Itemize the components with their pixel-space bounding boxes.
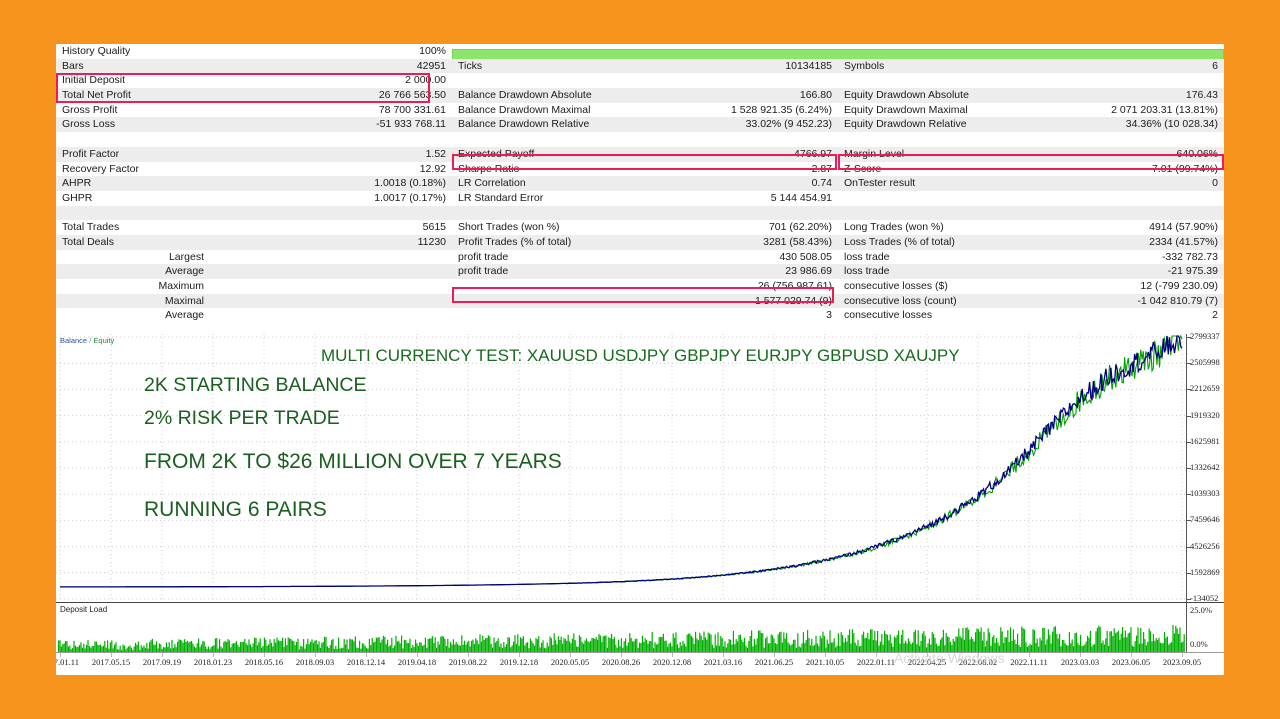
stats-row: Gross Profit78 700 331.61	[56, 103, 452, 118]
deposit-load-bar	[435, 637, 436, 653]
x-axis-tick: 2019.08.22	[449, 657, 487, 667]
deposit-load-bar	[1114, 628, 1115, 653]
deposit-load-bar	[797, 633, 798, 653]
deposit-load-bar	[699, 633, 700, 653]
deposit-load-bar	[1179, 627, 1180, 653]
stats-row-value: 5615	[423, 220, 446, 235]
deposit-load-bar	[645, 638, 646, 653]
deposit-load-y-axis: 25.0%0.0%	[1186, 602, 1224, 652]
deposit-load-bar	[695, 632, 696, 653]
deposit-load-bar	[758, 631, 759, 653]
stats-row: AHPR1.0018 (0.18%)	[56, 176, 452, 191]
deposit-load-bar	[757, 639, 758, 654]
deposit-load-bar	[1153, 634, 1154, 653]
deposit-load-bar	[673, 633, 674, 653]
y-axis-tick: 7459646	[1190, 514, 1220, 524]
deposit-load-bar	[1119, 640, 1120, 654]
deposit-load-bar	[1052, 632, 1053, 653]
legend-separator: /	[89, 336, 91, 345]
stats-column-3: Symbols6Equity Drawdown Absolute176.43Eq…	[838, 44, 1224, 334]
deposit-load-bar	[447, 639, 448, 653]
y-axis-tick-mark	[1187, 442, 1191, 443]
deposit-load-bar	[1055, 626, 1056, 653]
deposit-load-bar	[857, 640, 858, 653]
stats-row-label: Total Trades	[62, 220, 119, 235]
deposit-load-bar	[807, 630, 808, 653]
deposit-load-bar	[227, 639, 228, 653]
deposit-load-bar	[692, 638, 693, 653]
deposit-load-bar	[1069, 632, 1070, 653]
overlay-line-2: 2% RISK PER TRADE	[144, 407, 340, 430]
deposit-load-bar	[1105, 639, 1106, 654]
stats-row-label: Long Trades (won %)	[844, 220, 944, 235]
deposit-load-bar	[1044, 628, 1045, 653]
deposit-load-bar	[178, 639, 179, 653]
stats-row-label: LR Standard Error	[458, 191, 543, 206]
stats-row: profit trade23 986.69	[452, 264, 838, 279]
x-axis-tick-mark	[723, 653, 724, 657]
deposit-load-bar	[425, 638, 426, 653]
deposit-load-bar	[384, 637, 385, 653]
stats-row: Margin Level640.06%	[838, 147, 1224, 162]
x-axis-tick-mark	[621, 653, 622, 657]
deposit-load-bar	[372, 638, 373, 653]
deposit-load-bar	[377, 638, 378, 653]
deposit-load-bar	[642, 636, 643, 653]
legend-equity: Equity	[93, 336, 114, 345]
deposit-load-bar	[864, 638, 865, 653]
stats-row-value: 2	[1212, 308, 1218, 323]
deposit-load-bar	[1042, 628, 1043, 653]
deposit-load-bar	[1049, 635, 1050, 653]
y-axis-tick-mark	[1187, 416, 1191, 417]
stats-row-label: consecutive losses ($)	[844, 279, 948, 294]
x-axis-tick-mark	[366, 653, 367, 657]
deposit-load-bar	[618, 640, 619, 653]
stats-row	[452, 73, 838, 88]
deposit-load-bar	[593, 638, 594, 653]
stats-row: Largest	[56, 250, 452, 265]
deposit-load-bar	[786, 633, 787, 653]
deposit-load-bar	[332, 639, 333, 653]
stats-row-value: 42951	[417, 59, 446, 74]
x-axis-tick: 2020.08.26	[602, 657, 640, 667]
deposit-load-bar	[625, 638, 626, 653]
stats-row	[452, 44, 838, 59]
deposit-load-bar	[535, 638, 536, 653]
stats-row	[452, 132, 838, 147]
deposit-load-bar	[1095, 631, 1096, 653]
deposit-load-bar	[596, 637, 597, 653]
x-axis-tick-mark	[162, 653, 163, 657]
deposit-load-bar	[1167, 637, 1168, 654]
stats-row-label: Maximal	[56, 294, 204, 309]
deposit-load-bar	[1140, 628, 1141, 653]
deposit-load-bar	[842, 635, 843, 653]
stats-row-value: 166.80	[800, 88, 832, 103]
deposit-load-bar	[870, 629, 871, 653]
deposit-load-bar	[766, 637, 767, 654]
deposit-load-bar	[338, 638, 339, 653]
deposit-load-bar	[887, 635, 888, 653]
x-axis-tick: 2018.09.03	[296, 657, 334, 667]
stats-row-value: 10134185	[785, 59, 832, 74]
stats-row: Gross Loss-51 933 768.11	[56, 117, 452, 132]
deposit-load-bar	[255, 638, 256, 653]
chart-y-axis: 2799337250599822126591919320162598113326…	[1186, 334, 1224, 602]
stats-row: Profit Trades (% of total)3281 (58.43%)	[452, 235, 838, 250]
deposit-load-bar	[612, 639, 613, 653]
deposit-load-bar	[754, 639, 755, 653]
stats-row-value: 1 528 921.35 (6.24%)	[731, 103, 832, 118]
deposit-load-bar	[1088, 638, 1089, 653]
y-axis-tick-mark	[1187, 468, 1191, 469]
stats-row-value: -51 933 768.11	[376, 117, 446, 132]
stats-row-label: Largest	[56, 250, 204, 265]
stats-row-value: 78 700 331.61	[379, 103, 446, 118]
stats-row: Balance Drawdown Maximal1 528 921.35 (6.…	[452, 103, 838, 118]
deposit-load-bar	[783, 632, 784, 653]
deposit-load-bar	[517, 634, 518, 653]
stats-row-value: 1.52	[426, 147, 446, 162]
deposit-load-bar	[307, 639, 308, 653]
deposit-load-bar	[1121, 634, 1122, 653]
deposit-load-bar	[1143, 632, 1144, 653]
stats-row-value: 34.36% (10 028.34)	[1126, 117, 1218, 132]
deposit-load-bar	[1007, 630, 1008, 653]
x-axis-tick: 2023.06.05	[1112, 657, 1150, 667]
stats-row: LR Standard Error5 144 454.91	[452, 191, 838, 206]
deposit-load-bar	[523, 636, 524, 653]
deposit-load-bar	[485, 638, 486, 653]
deposit-load-bar	[689, 634, 690, 653]
x-axis-tick-mark	[1182, 653, 1183, 657]
deposit-load-bar	[521, 639, 522, 654]
stats-column-1: History Quality100%Bars42951Initial Depo…	[56, 44, 452, 334]
stats-row-label: Maximum	[56, 279, 204, 294]
deposit-load-bar	[1128, 633, 1129, 653]
deposit-load-bar	[848, 635, 849, 653]
deposit-load-bar	[409, 639, 410, 653]
stats-row-label: Profit Factor	[62, 147, 119, 162]
y-axis-tick-mark	[1187, 494, 1191, 495]
deposit-load-bar	[688, 634, 689, 653]
deposit-load-bar	[1129, 633, 1130, 654]
deposit-load-bar	[440, 637, 441, 653]
deposit-load-bar	[1122, 627, 1123, 653]
deposit-load-bar	[834, 638, 835, 653]
deposit-load-bar	[1023, 628, 1024, 653]
x-axis-tick: 2023.03.03	[1061, 657, 1099, 667]
y-axis-tick: 1919320	[1190, 410, 1220, 420]
deposit-load-bar	[1098, 626, 1099, 653]
stats-row: Z-Score-7.01 (99.74%)	[838, 162, 1224, 177]
deposit-load-bar	[297, 639, 298, 653]
deposit-load-bar	[461, 635, 462, 653]
y-axis-tick: 1332642	[1190, 462, 1220, 472]
deposit-load-bar	[1125, 631, 1126, 654]
deposit-load-bar	[600, 636, 601, 654]
stats-row-value: 5 144 454.91	[771, 191, 832, 206]
stats-row-value: 33.02% (9 452.23)	[746, 117, 832, 132]
deposit-load-bar	[687, 635, 688, 653]
deposit-load-bar	[803, 632, 804, 653]
deposit-load-bar	[722, 638, 723, 653]
deposit-load-bar	[1175, 626, 1176, 653]
x-axis-tick-mark	[60, 653, 61, 657]
deposit-load-bar	[489, 636, 490, 653]
stats-row-label: Equity Drawdown Maximal	[844, 103, 968, 118]
deposit-load-bar	[884, 631, 885, 653]
deposit-load-bar	[1034, 630, 1035, 653]
deposit-load-bar	[1118, 631, 1119, 653]
stats-row	[838, 191, 1224, 206]
stats-row-value: 4914 (57.90%)	[1149, 220, 1218, 235]
stats-row-label: GHPR	[62, 191, 92, 206]
stats-row-label: Recovery Factor	[62, 162, 139, 177]
stats-row-label: Short Trades (won %)	[458, 220, 560, 235]
deposit-load-bar	[1150, 631, 1151, 653]
x-axis-tick-mark	[417, 653, 418, 657]
deposit-load-bar	[1158, 638, 1159, 653]
deposit-load-bar	[1177, 629, 1178, 654]
equity-chart: EuForex Balance / Equity MULTI CURRENCY …	[56, 334, 1224, 675]
deposit-load-bar	[1024, 629, 1025, 653]
deposit-load-bar	[736, 639, 737, 653]
x-axis-tick-mark	[519, 653, 520, 657]
deposit-load-bar	[573, 634, 574, 654]
deposit-load-bar	[352, 640, 353, 654]
y-axis-tick-mark	[1187, 337, 1191, 338]
deposit-load-bar	[401, 636, 402, 654]
stats-row-value: 640.06%	[1177, 147, 1218, 162]
stats-row: Recovery Factor12.92	[56, 162, 452, 177]
deposit-load-bar	[811, 639, 812, 653]
stats-row-label: Symbols	[844, 59, 884, 74]
stats-row-value: 2334 (41.57%)	[1149, 235, 1218, 250]
deposit-load-bar	[1137, 627, 1138, 653]
stats-row: Equity Drawdown Absolute176.43	[838, 88, 1224, 103]
deposit-load-bar	[866, 638, 867, 653]
deposit-load-bar	[549, 637, 550, 654]
deposit-load-bar	[429, 638, 430, 653]
deposit-load-bar	[1178, 634, 1179, 653]
x-axis-tick-mark	[213, 653, 214, 657]
y-axis-tick-mark	[1187, 599, 1191, 600]
deposit-load-bar	[507, 637, 508, 653]
statistics-table: History Quality100%Bars42951Initial Depo…	[56, 44, 1224, 334]
stats-row: Average	[56, 264, 452, 279]
stats-row	[56, 206, 452, 221]
deposit-load-bar	[1107, 631, 1108, 653]
stats-row: loss trade-332 782.73	[838, 250, 1224, 265]
deposit-load-bar	[324, 637, 325, 653]
stats-row-label: Expected Payoff	[458, 147, 534, 162]
stats-row-label: loss trade	[844, 250, 890, 265]
stats-row: Short Trades (won %)701 (62.20%)	[452, 220, 838, 235]
deposit-load-bar	[862, 635, 863, 654]
stats-row-value: 12 (-799 230.09)	[1140, 279, 1218, 294]
stats-row: Equity Drawdown Maximal2 071 203.31 (13.…	[838, 103, 1224, 118]
deposit-load-bar	[215, 639, 216, 654]
stats-row: Loss Trades (% of total)2334 (41.57%)	[838, 235, 1224, 250]
deposit-load-bar	[852, 629, 853, 653]
deposit-load-bar	[597, 640, 598, 653]
stats-row-value: 100%	[419, 44, 446, 59]
stats-row-label: Balance Drawdown Absolute	[458, 88, 592, 103]
stats-row-label: LR Correlation	[458, 176, 526, 191]
stats-row-value: 3281 (58.43%)	[763, 235, 832, 250]
deposit-load-bar	[701, 636, 702, 653]
x-axis-tick: 2021.10.05	[806, 657, 844, 667]
x-axis-tick-mark	[111, 653, 112, 657]
stats-row	[452, 206, 838, 221]
stats-row-label: Balance Drawdown Relative	[458, 117, 589, 132]
deposit-load-bar	[610, 638, 611, 653]
deposit-load-bar	[554, 633, 555, 653]
deposit-load-bar	[635, 639, 636, 653]
x-axis-tick: 2020.05.05	[551, 657, 589, 667]
deposit-load-bar	[794, 640, 795, 653]
deposit-load-bar	[538, 636, 539, 653]
deposit-load-bar	[780, 632, 781, 653]
deposit-load-bar	[1013, 629, 1014, 653]
stats-row: consecutive losses2	[838, 308, 1224, 323]
deposit-load-bar	[759, 631, 760, 653]
x-axis-tick: 2018.05.16	[245, 657, 283, 667]
deposit-load-bar	[652, 632, 653, 653]
stats-row: Total Trades5615	[56, 220, 452, 235]
deposit-load-bar	[705, 637, 706, 653]
deposit-load-bar	[605, 635, 606, 653]
stats-row-value: -332 782.73	[1162, 250, 1218, 265]
deposit-load-bar	[594, 639, 595, 653]
deposit-load-bar	[498, 638, 499, 653]
deposit-load-bar	[629, 633, 630, 653]
deposit-load-bar	[715, 634, 716, 653]
deposit-load-bar	[1184, 634, 1185, 653]
deposit-load-bar	[325, 637, 326, 653]
deposit-load-bar	[772, 635, 773, 653]
deposit-load-bar	[1130, 627, 1131, 653]
deposit-load-bar	[890, 635, 891, 654]
deposit-load-bar	[871, 630, 872, 654]
deposit-load-bar	[198, 639, 199, 654]
stats-row: Initial Deposit2 000.00	[56, 73, 452, 88]
deposit-load-bar	[346, 640, 347, 654]
x-axis-tick-mark	[468, 653, 469, 657]
deposit-load-bar	[614, 637, 615, 653]
deposit-load-bar	[479, 634, 480, 653]
deposit-load-bar	[778, 634, 779, 653]
deposit-load-bar	[264, 638, 265, 654]
deposit-load-bar	[1072, 639, 1073, 653]
deposit-load-bar	[265, 640, 266, 653]
stats-column-2: Ticks10134185Balance Drawdown Absolute16…	[452, 44, 838, 334]
deposit-load-bar	[824, 636, 825, 653]
stats-row-label: Average	[56, 308, 204, 323]
deposit-load-bar	[444, 639, 445, 653]
stats-row-value: 11230	[418, 235, 446, 250]
stats-row: Average	[56, 308, 452, 323]
stats-row: Maximal	[56, 294, 452, 309]
deposit-load-bar	[443, 637, 444, 653]
deposit-load-bar	[1004, 637, 1005, 653]
stats-row	[838, 206, 1224, 221]
deposit-load-bar	[821, 638, 822, 653]
deposit-load-bar	[1109, 632, 1110, 654]
deposit-load-bar	[720, 636, 721, 653]
x-axis-tick: 2020.12.08	[653, 657, 691, 667]
deposit-load-bar	[631, 638, 632, 653]
deposit-load-bar	[349, 638, 350, 653]
deposit-load-bar	[1058, 639, 1059, 654]
deposit-load-bar	[603, 636, 604, 653]
deposit-load-bar	[369, 639, 370, 653]
x-axis-tick: 2021.03.16	[704, 657, 742, 667]
deposit-load-bar	[486, 638, 487, 653]
x-axis-tick: 2023.09.05	[1163, 657, 1201, 667]
x-axis-tick-mark	[672, 653, 673, 657]
deposit-load-bar	[216, 638, 217, 653]
y-axis-tick: 4526256	[1190, 541, 1220, 551]
stats-row: 1 577 029.74 (9)	[452, 294, 838, 309]
deposit-load-bar	[708, 633, 709, 654]
deposit-load-bar	[379, 637, 380, 653]
deposit-load-bar	[661, 637, 662, 653]
deposit-load-bar	[290, 639, 291, 653]
stats-row: loss trade-21 975.39	[838, 264, 1224, 279]
deposit-load-panel: Deposit Load	[56, 602, 1186, 653]
deposit-load-bar	[881, 634, 882, 653]
overlay-title: MULTI CURRENCY TEST: XAUUSD USDJPY GBPJP…	[321, 346, 960, 366]
stats-row-value: 2 000.00	[405, 73, 446, 88]
deposit-load-bar	[184, 639, 185, 653]
deposit-load-bar	[762, 633, 763, 653]
x-axis-tick-mark	[825, 653, 826, 657]
deposit-load-bar	[863, 632, 864, 653]
deposit-load-bar	[537, 639, 538, 653]
y-axis-tick-mark	[1187, 547, 1191, 548]
deposit-load-bar	[785, 639, 786, 653]
stats-row-label: AHPR	[62, 176, 91, 191]
deposit-load-bar	[442, 636, 443, 653]
deposit-load-bar	[1090, 631, 1091, 653]
y-axis-tick: 2799337	[1190, 331, 1220, 341]
stats-row-value: 26 (756 987.61)	[758, 279, 832, 294]
deposit-load-bar	[355, 636, 356, 653]
stats-row: Sharpe Ratio2.87	[452, 162, 838, 177]
deposit-load-bar	[568, 635, 569, 653]
y-axis-tick-mark	[1187, 389, 1191, 390]
x-axis-tick: 2018.12.14	[347, 657, 385, 667]
stats-row-label: Ticks	[458, 59, 482, 74]
deposit-load-bar	[741, 640, 742, 653]
deposit-load-bar	[1053, 627, 1054, 653]
deposit-load-bar	[1097, 628, 1098, 653]
deposit-load-bar	[1165, 638, 1166, 653]
deposit-load-bar	[706, 640, 707, 653]
stats-row: Equity Drawdown Relative34.36% (10 028.3…	[838, 117, 1224, 132]
x-axis-tick-mark	[1080, 653, 1081, 657]
deposit-load-bar	[750, 636, 751, 653]
deposit-load-bar	[659, 637, 660, 653]
deposit-load-bar	[765, 638, 766, 653]
stats-row-value: 2.87	[812, 162, 832, 177]
deposit-load-bar	[827, 639, 828, 653]
deposit-load-bar	[472, 640, 473, 654]
stats-row: OnTester result0	[838, 176, 1224, 191]
